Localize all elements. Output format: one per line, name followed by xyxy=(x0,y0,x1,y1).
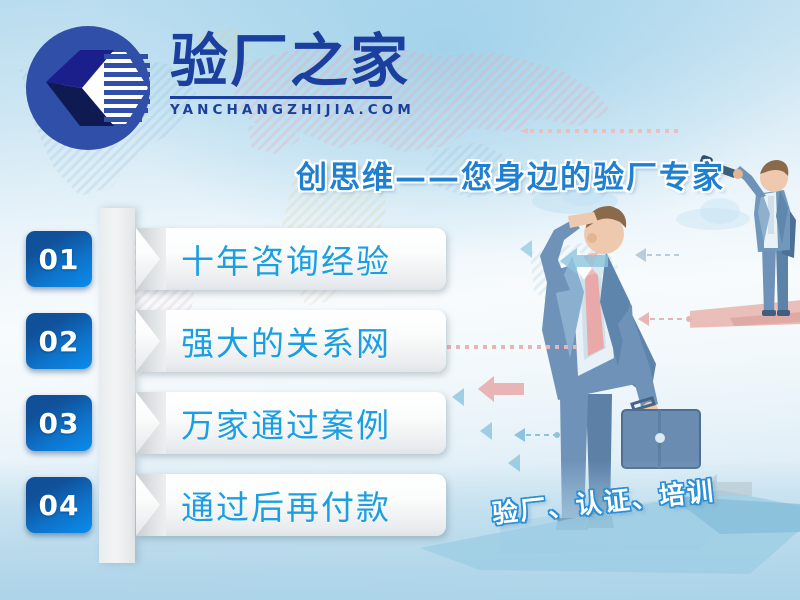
dotted-line-accent xyxy=(520,128,680,134)
feature-number: 02 xyxy=(39,325,80,358)
arrow-left-small-icon xyxy=(508,454,520,472)
arrow-dashed-left-icon xyxy=(638,312,692,326)
arrow-left-icon xyxy=(478,374,524,404)
arrow-dashed-left-icon xyxy=(514,428,560,442)
tagline-text: 创思维——您身边的验厂专家 xyxy=(296,152,725,197)
arrow-left-small-icon xyxy=(480,422,492,440)
hexagon-cube-logo-icon xyxy=(22,22,154,154)
feature-ribbon[interactable]: 强大的关系网 xyxy=(136,310,446,372)
feature-label: 强大的关系网 xyxy=(181,317,391,365)
cloud-shape xyxy=(700,198,740,224)
feature-number: 01 xyxy=(39,243,80,276)
arrow-left-small-icon xyxy=(452,388,464,406)
poster-canvas: 验厂之家 YANCHANGZHIJIA.COM 创思维——您身边的验厂专家 01… xyxy=(0,0,800,600)
feature-label: 通过后再付款 xyxy=(181,481,391,529)
logo-divider xyxy=(170,96,392,99)
feature-number-badge: 04 xyxy=(26,477,92,533)
feature-number: 04 xyxy=(39,489,80,522)
feature-number-badge: 01 xyxy=(26,231,92,287)
feature-number: 03 xyxy=(39,407,80,440)
feature-ribbon[interactable]: 十年咨询经验 xyxy=(136,228,446,290)
arrow-left-icon xyxy=(560,246,608,276)
feature-label: 十年咨询经验 xyxy=(181,235,391,283)
feature-number-badge: 03 xyxy=(26,395,92,451)
feature-ribbon[interactable]: 通过后再付款 xyxy=(136,474,446,536)
vertical-divider-bar xyxy=(99,208,135,563)
feature-ribbon[interactable]: 万家通过案例 xyxy=(136,392,446,454)
bottom-slogan-text: 验厂、认证、培训 xyxy=(490,471,717,531)
arrow-dashed-left-icon xyxy=(635,248,683,262)
arrow-left-small-icon xyxy=(520,240,532,258)
logo-domain: YANCHANGZHIJIA.COM xyxy=(170,102,400,118)
feature-number-badge: 02 xyxy=(26,313,92,369)
logo-wordmark: 验厂之家 YANCHANGZHIJIA.COM xyxy=(170,32,400,118)
brand-logo[interactable]: 验厂之家 YANCHANGZHIJIA.COM xyxy=(22,16,402,136)
feature-label: 万家通过案例 xyxy=(181,399,391,447)
logo-name-cn: 验厂之家 xyxy=(170,32,400,90)
